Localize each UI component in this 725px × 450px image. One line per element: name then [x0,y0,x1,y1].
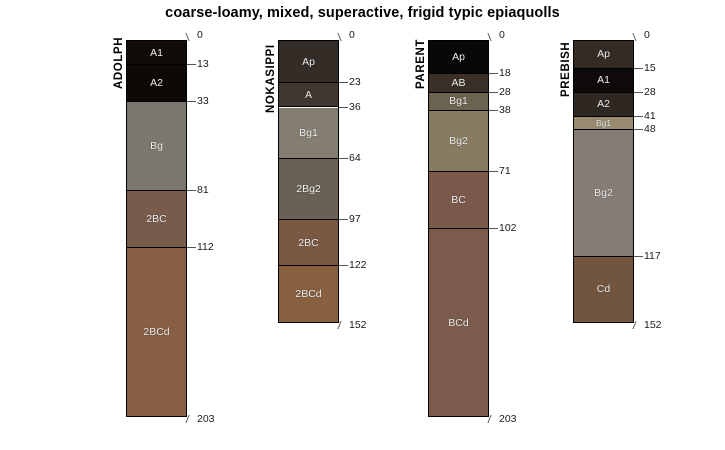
horizon-segment[interactable]: A1 [127,41,186,65]
depth-axis: 018283871102203 [489,0,535,450]
horizon-label: BC [451,194,466,206]
horizon-segment[interactable]: Bg1 [279,108,338,160]
depth-tick-label: 36 [349,102,361,112]
horizon-label: BCd [448,317,468,329]
horizon-segment[interactable]: 2Bg2 [279,159,338,220]
depth-tick [634,92,643,93]
horizon-label: Ap [452,51,465,63]
depth-axis: 023366497122152 [339,0,385,450]
horizon-segment[interactable]: Ap [574,41,633,69]
horizon-label: 2BC [146,213,166,225]
depth-axis: 0133381112203 [187,0,233,450]
depth-tick-label: 64 [349,153,361,163]
horizon-label: AB [451,77,465,89]
depth-tick-label: 23 [349,77,361,87]
depth-tick-label: 203 [499,414,517,424]
soil-profile-plot: ADOLPHA1A2Bg2BC2BCd0133381112203NOKASIPP… [0,0,725,450]
horizon-label: A1 [150,47,163,59]
depth-tick-label: 28 [644,87,656,97]
depth-tick [339,158,348,159]
horizon-segment[interactable]: 2BCd [127,248,186,416]
horizon-label: Bg2 [594,187,613,199]
horizon-label: A2 [597,98,610,110]
horizon-segment[interactable]: 2BC [127,191,186,248]
horizon-segment[interactable]: 2BC [279,220,338,266]
depth-tick-label: 203 [197,414,215,424]
horizon-segment[interactable]: A2 [127,65,186,102]
horizon-segment[interactable]: Bg1 [429,93,488,111]
horizon-label: Bg [150,140,163,152]
depth-tick [634,256,643,257]
depth-tick [634,129,643,130]
depth-tick-label: 122 [349,260,367,270]
depth-tick-label: 41 [644,111,656,121]
profile-column: ApABg12Bg22BC2BCd [278,40,339,323]
depth-tick [634,116,643,117]
depth-tick-label: 102 [499,223,517,233]
depth-tick-label: 97 [349,214,361,224]
depth-tick-label: 0 [197,30,203,40]
depth-tick [187,101,196,102]
depth-tick-label: 112 [197,242,214,252]
profile-name-label: PREBISH [560,41,572,96]
horizon-label: Bg2 [449,135,468,147]
horizon-label: 2Bg2 [296,183,321,195]
depth-tick [489,73,498,74]
depth-tick-label: 13 [197,59,209,69]
depth-tick [339,107,348,108]
depth-tick-label: 152 [349,320,367,330]
horizon-segment[interactable]: 2BCd [279,266,338,321]
profile-column: ApA1A2Bg1Bg2Cd [573,40,634,323]
depth-tick-label: 81 [197,185,209,195]
profile-name-label: PARENT [415,39,427,89]
horizon-label: A1 [597,74,610,86]
horizon-segment[interactable]: Cd [574,257,633,322]
depth-tick [339,219,348,220]
depth-tick [187,190,196,191]
horizon-label: Bg1 [596,118,611,128]
horizon-label: 2BCd [295,288,321,300]
depth-tick-label: 117 [644,251,661,261]
depth-tick [339,82,348,83]
depth-tick [187,247,196,248]
horizon-segment[interactable]: Bg2 [574,130,633,257]
depth-tick-label: 33 [197,96,209,106]
horizon-label: Ap [597,48,610,60]
depth-tick [634,68,643,69]
horizon-segment[interactable]: A1 [574,69,633,93]
horizon-segment[interactable]: AB [429,74,488,92]
horizon-segment[interactable]: A [279,83,338,107]
horizon-label: 2BC [298,237,318,249]
depth-tick [187,64,196,65]
horizon-label: Bg1 [299,127,318,139]
depth-tick-label: 15 [644,63,656,73]
depth-tick [489,171,498,172]
depth-tick [489,110,498,111]
depth-tick [489,92,498,93]
horizon-segment[interactable]: Ap [429,41,488,74]
horizon-label: A [305,89,312,101]
horizon-label: Ap [302,56,315,68]
horizon-label: 2BCd [143,326,169,338]
depth-axis: 015284148117152 [634,0,680,450]
depth-tick-label: 152 [644,320,662,330]
horizon-segment[interactable]: Bg [127,102,186,191]
depth-tick-label: 0 [349,30,355,40]
profile-column: A1A2Bg2BC2BCd [126,40,187,417]
horizon-segment[interactable]: A2 [574,93,633,117]
depth-tick-label: 0 [644,30,650,40]
profile-column: ApABBg1Bg2BCBCd [428,40,489,417]
profile-name-label: ADOLPH [113,36,125,88]
horizon-label: Cd [597,283,610,295]
profile-name-label: NOKASIPPI [265,44,277,113]
depth-tick-label: 18 [499,68,511,78]
depth-tick-label: 28 [499,87,511,97]
depth-tick-label: 0 [499,30,505,40]
horizon-segment[interactable]: Ap [279,41,338,83]
depth-tick [339,265,348,266]
horizon-segment[interactable]: BCd [429,229,488,416]
depth-tick-label: 38 [499,105,511,115]
depth-tick [489,228,498,229]
depth-tick-label: 48 [644,124,656,134]
horizon-label: A2 [150,77,163,89]
horizon-segment[interactable]: BC [429,172,488,229]
horizon-label: Bg1 [449,95,468,107]
depth-tick-label: 71 [499,166,511,176]
horizon-segment[interactable]: Bg2 [429,111,488,172]
horizon-segment[interactable]: Bg1 [574,117,633,130]
